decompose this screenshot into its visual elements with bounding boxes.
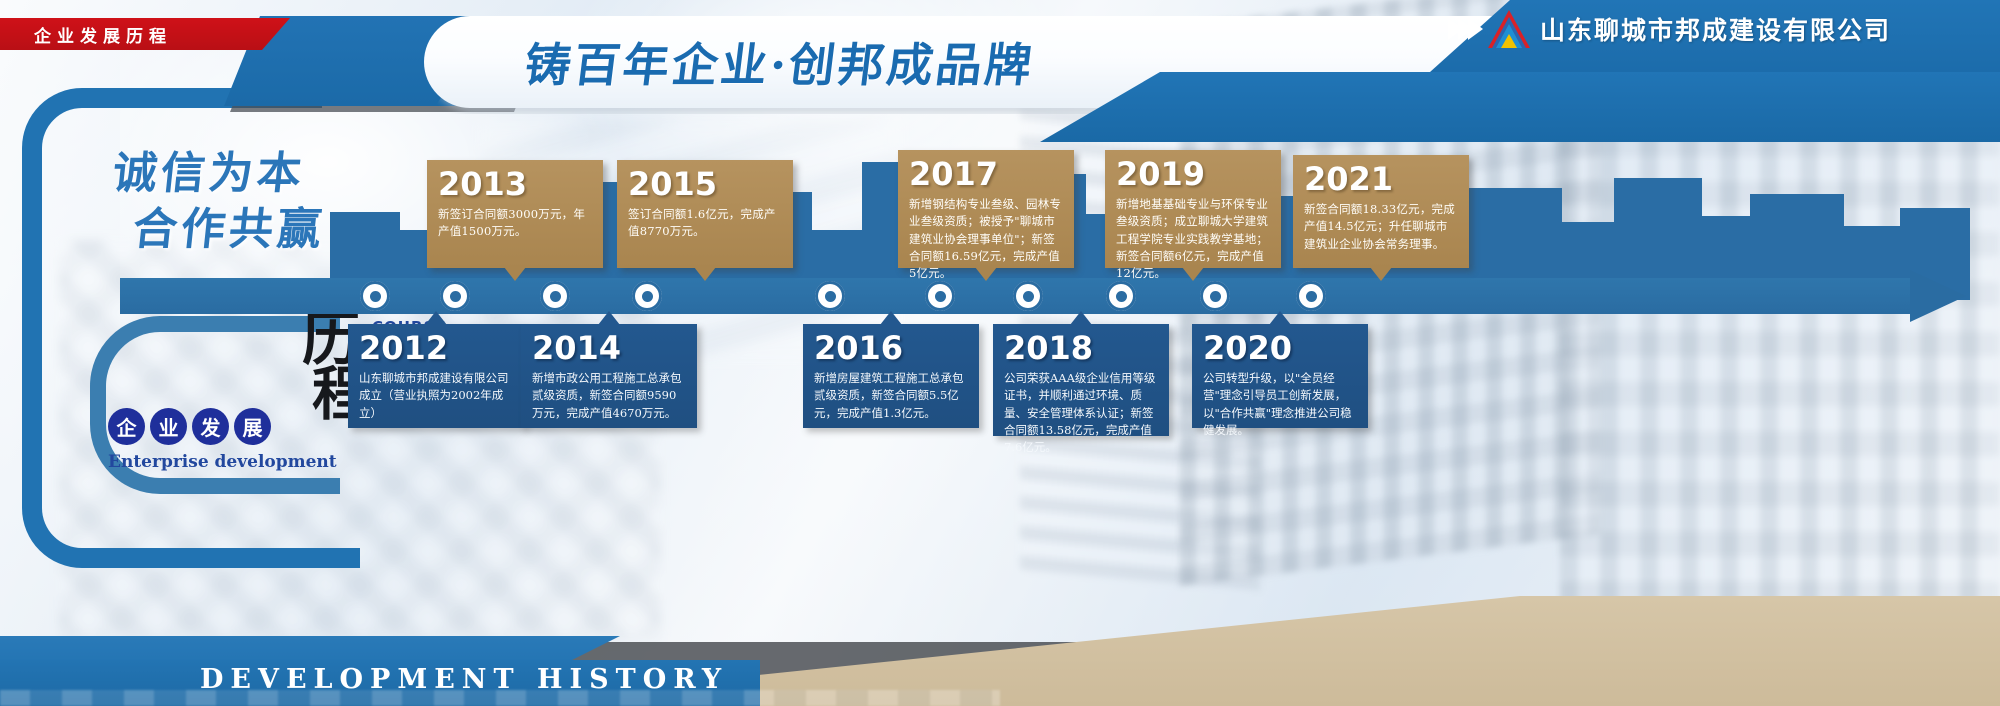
milestone-card-2016[interactable]: 2016 新增房屋建筑工程施工总承包贰级资质，新签合同额5.5亿元，完成产值1.… bbox=[803, 324, 979, 428]
badge-circle-0: 企 bbox=[108, 408, 145, 445]
slogan-line-1: 诚信为本 bbox=[110, 146, 376, 202]
badge-circle-2: 发 bbox=[192, 408, 229, 445]
card-tail bbox=[598, 311, 620, 325]
milestone-year-2015: 2015 bbox=[628, 168, 782, 200]
card-tail bbox=[1370, 267, 1392, 281]
milestone-year-2012: 2012 bbox=[359, 332, 513, 364]
milestone-year-2019: 2019 bbox=[1116, 158, 1270, 190]
header-band-lower bbox=[1040, 72, 2000, 142]
milestone-card-2014[interactable]: 2014 新增市政公用工程施工总承包贰级资质，新签合同额9590万元，完成产值4… bbox=[521, 324, 697, 428]
footer-development-history-label: DEVELOPMENT HISTORY bbox=[200, 664, 728, 695]
milestone-card-2020[interactable]: 2020 公司转型升级，以"全员经营"理念引导员工创新发展，以"合作共赢"理念推… bbox=[1192, 324, 1368, 428]
slogan-line-2: 合作共赢 bbox=[130, 202, 370, 258]
milestone-card-2018[interactable]: 2018 公司荣获AAA级企业信用等级证书，并顺利通过环境、质量、安全管理体系认… bbox=[993, 324, 1169, 436]
timeline-dot-2021[interactable] bbox=[1296, 281, 1326, 311]
timeline-dot-2013[interactable] bbox=[440, 281, 470, 311]
milestone-text-2020: 公司转型升级，以"全员经营"理念引导员工创新发展，以"合作共赢"理念推进公司稳健… bbox=[1203, 370, 1357, 439]
timeline-dot-2019[interactable] bbox=[1106, 281, 1136, 311]
badge-english-label: Enterprise development bbox=[108, 452, 337, 472]
card-tail bbox=[425, 311, 447, 325]
timeline-arrow-icon bbox=[1910, 270, 1966, 322]
card-tail bbox=[1269, 311, 1291, 325]
timeline-dot-2020[interactable] bbox=[1200, 281, 1230, 311]
card-tail bbox=[1070, 311, 1092, 325]
red-banner: 企业发展历程 bbox=[0, 18, 290, 50]
milestone-card-2013[interactable]: 2013 新签订合同额3000万元，年产值1500万元。 bbox=[427, 160, 603, 268]
timeline-dot-2016[interactable] bbox=[815, 281, 845, 311]
company-slogan: 诚信为本 合作共赢 bbox=[104, 146, 376, 259]
company-name: 山东聊城市邦成建设有限公司 bbox=[1540, 11, 1891, 47]
milestone-card-2015[interactable]: 2015 签订合同额1.6亿元，完成产值8770万元。 bbox=[617, 160, 793, 268]
milestone-year-2013: 2013 bbox=[438, 168, 592, 200]
milestone-card-2019[interactable]: 2019 新增地基基础专业与环保专业叁级资质；成立聊城大学建筑工程学院专业实践教… bbox=[1105, 150, 1281, 268]
timeline-dot-2015[interactable] bbox=[632, 281, 662, 311]
milestone-text-2021: 新签合同额18.33亿元，完成产值14.5亿元；升任聊城市建筑业企业协会常务理事… bbox=[1304, 201, 1458, 253]
card-tail bbox=[504, 267, 526, 281]
milestone-year-2021: 2021 bbox=[1304, 163, 1458, 195]
card-tail bbox=[1182, 267, 1204, 281]
milestone-text-2016: 新增房屋建筑工程施工总承包贰级资质，新签合同额5.5亿元，完成产值1.3亿元。 bbox=[814, 370, 968, 422]
badge-circle-1: 业 bbox=[150, 408, 187, 445]
card-tail bbox=[975, 267, 997, 281]
milestone-text-2013: 新签订合同额3000万元，年产值1500万元。 bbox=[438, 206, 592, 241]
milestone-text-2014: 新增市政公用工程施工总承包贰级资质，新签合同额9590万元，完成产值4670万元… bbox=[532, 370, 686, 422]
red-banner-label: 企业发展历程 bbox=[34, 22, 172, 47]
milestone-year-2016: 2016 bbox=[814, 332, 968, 364]
double-chevron-right-icon bbox=[1448, 18, 1478, 40]
milestone-card-2017[interactable]: 2017 新增钢结构专业叁级、园林专业叁级资质；被授予"聊城市建筑业协会理事单位… bbox=[898, 150, 1074, 268]
milestone-card-2021[interactable]: 2021 新签合同额18.33亿元，完成产值14.5亿元；升任聊城市建筑业企业协… bbox=[1293, 155, 1469, 268]
timeline-dot-2017[interactable] bbox=[925, 281, 955, 311]
timeline-dot-2014[interactable] bbox=[540, 281, 570, 311]
frame-bottom-extension bbox=[120, 548, 360, 568]
milestone-text-2018: 公司荣获AAA级企业信用等级证书，并顺利通过环境、质量、安全管理体系认证；新签合… bbox=[1004, 370, 1158, 456]
milestone-text-2012: 山东聊城市邦成建设有限公司成立（营业执照为2002年成立） bbox=[359, 370, 513, 422]
triangle-logo-icon bbox=[1488, 10, 1530, 48]
company-logo: 山东聊城市邦成建设有限公司 bbox=[1448, 10, 1891, 48]
badge-circle-3: 展 bbox=[234, 408, 271, 445]
milestone-year-2014: 2014 bbox=[532, 332, 686, 364]
milestone-year-2017: 2017 bbox=[909, 158, 1063, 190]
milestone-year-2018: 2018 bbox=[1004, 332, 1158, 364]
timeline-dot-2018[interactable] bbox=[1013, 281, 1043, 311]
milestone-card-2012[interactable]: 2012 山东聊城市邦成建设有限公司成立（营业执照为2002年成立） bbox=[348, 324, 524, 428]
milestone-text-2015: 签订合同额1.6亿元，完成产值8770万元。 bbox=[628, 206, 782, 241]
card-tail bbox=[880, 311, 902, 325]
milestone-year-2020: 2020 bbox=[1203, 332, 1357, 364]
card-tail bbox=[694, 267, 716, 281]
timeline-dot-2012[interactable] bbox=[360, 281, 390, 311]
ribbon-title: 铸百年企业·创邦成品牌 bbox=[465, 18, 1096, 106]
